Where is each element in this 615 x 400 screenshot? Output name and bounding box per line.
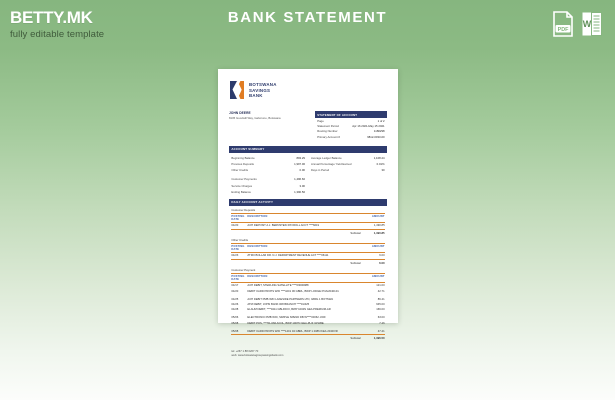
subtotal-row: Subtotal6.00 xyxy=(231,259,384,266)
column-header-date: POSTING DATE xyxy=(231,275,247,281)
footer-web: web: www.botswanagroupsavingsbank.com xyxy=(231,354,384,358)
transaction-date: 05/08 xyxy=(231,322,247,325)
transaction-description: ELAUM DEBIT, ****0411 GBLRICO, BWP 1002N… xyxy=(247,308,366,311)
summary-row-label: Service Charges xyxy=(231,184,252,188)
column-header-description: DESCRIPTION xyxy=(247,245,366,251)
statement-row-value: 9812-0033-00 xyxy=(367,135,384,139)
transaction-amount: 1,490.85 xyxy=(367,224,385,227)
subtotal-value: 6.00 xyxy=(367,261,385,265)
transaction-date: 05/06 xyxy=(231,316,247,319)
bank-name-line3: BANK xyxy=(249,93,277,99)
transaction-description: ACH DEBIT, STERLING SATELLITE ****030009… xyxy=(247,284,366,287)
summary-row-label: Ending Balance xyxy=(231,190,251,194)
column-header-date: POSTING DATE xyxy=(231,245,247,251)
transaction-description: DEBIT CARD PRCHS W/D ****1401 04 GBRL, B… xyxy=(247,330,366,333)
summary-row-value: 0.00 xyxy=(300,168,305,172)
summary-column-right: Average Ledger Balance1,108.24Annual Per… xyxy=(311,155,385,195)
activity-group-title: Other Credits xyxy=(231,236,384,243)
summary-column-left: Beginning Balance893.29Previous Deposits… xyxy=(231,155,305,195)
document-footer: tel: +267 1 88 0267 70 web: www.botswana… xyxy=(229,350,387,358)
summary-row-label: Annual Percentage Yield Earned xyxy=(311,162,351,166)
transaction-description: ACH DEPOSIT A.J. BERNSTEIN PAYROLL ACCT … xyxy=(247,224,366,227)
transaction-amount: 166.00 xyxy=(367,308,385,311)
statement-row-label: Statement Period xyxy=(317,124,339,128)
top-header-bar: BETTY.MK fully editable template BANK ST… xyxy=(0,0,615,50)
word-file-icon[interactable]: W xyxy=(581,11,603,37)
activity-column-header: POSTING DATEDESCRIPTIONAMOUNT xyxy=(231,273,384,283)
column-header-description: DESCRIPTION xyxy=(247,215,366,221)
statement-box-title: STATEMENT OF ACCOUNT xyxy=(315,111,387,118)
bank-header: BOTSWANA SAVINGS BANK xyxy=(229,80,387,102)
svg-text:PDF: PDF xyxy=(558,27,569,33)
transaction-description: ZTRO BOLLAR DR. N.J. DEPARTMENT REVENUE … xyxy=(247,254,366,257)
identity-row: JOHN DEERE 8105 Goodwill Way, Gaborone, … xyxy=(229,111,387,139)
activity-group-title: Customer Payment xyxy=(231,266,384,273)
document-preview[interactable]: BOTSWANA SAVINGS BANK JOHN DEERE 8105 Go… xyxy=(218,69,398,323)
summary-row-label: Beginning Balance xyxy=(231,156,254,160)
summary-row-value: 3.00 xyxy=(300,184,305,188)
bank-logo-icon xyxy=(229,80,245,100)
column-header-amount: AMOUNT xyxy=(367,245,385,251)
transaction-description: ELECTRONIC PMB W/D, SIMPLE SPEND DB W***… xyxy=(247,316,366,319)
transaction-amount: 86.41 xyxy=(367,298,385,301)
statement-row-value: 1180298 xyxy=(374,129,385,133)
summary-row: Days in Period30 xyxy=(311,167,385,173)
summary-row-value: 1,390.50 xyxy=(294,190,305,194)
customer-block: JOHN DEERE 8105 Goodwill Way, Gaborone, … xyxy=(229,111,315,139)
transaction-amount: 645.00 xyxy=(367,303,385,306)
statement-of-account-box: STATEMENT OF ACCOUNT Page1 of 2Statement… xyxy=(315,111,387,139)
customer-name: JOHN DEERE xyxy=(229,111,315,115)
summary-row-value: 1,108.24 xyxy=(374,156,385,160)
summary-row-label: Customer Payments xyxy=(231,177,256,181)
transaction-date: 04/20 xyxy=(231,290,247,293)
column-header-date: POSTING DATE xyxy=(231,215,247,221)
transaction-date: 05/08 xyxy=(231,330,247,333)
transaction-description: ATM DEBIT, JOHN BANK 008 BRANCH ****01/4… xyxy=(247,303,366,306)
transaction-amount: 6.00 xyxy=(367,254,385,257)
transaction-date: 04/26 xyxy=(231,303,247,306)
transaction-date: 04/28 xyxy=(231,308,247,311)
daily-activity-header: DAILY ACCOUNT ACTIVITY xyxy=(229,199,387,206)
statement-row-value: 1 of 2 xyxy=(378,119,385,123)
subtotal-row: Subtotal1,496.50 xyxy=(231,334,384,341)
statement-row-value: Apr 16 2021-May 15 2021 xyxy=(352,124,384,128)
summary-row-label: Average Ledger Balance xyxy=(311,156,342,160)
account-summary-body: Beginning Balance893.29Previous Deposits… xyxy=(229,153,387,195)
transaction-date: 04/23 xyxy=(231,254,247,257)
column-header-amount: AMOUNT xyxy=(367,215,385,221)
statement-row-label: Page xyxy=(317,119,324,123)
summary-row-value: 0.01% xyxy=(377,162,385,166)
transaction-amount: 63.00 xyxy=(367,316,385,319)
summary-row: Ending Balance1,390.50 xyxy=(231,189,305,195)
statement-row-label: Primary Account # xyxy=(317,135,340,139)
bank-name-line1: BOTSWANA xyxy=(249,82,277,88)
transaction-amount: 42.71 xyxy=(367,290,385,293)
summary-row-value: 30 xyxy=(381,168,384,172)
subtotal-label: Subtotal xyxy=(231,231,366,235)
summary-row-value: 1,997.00 xyxy=(294,162,305,166)
transaction-description: ACH DEBIT PMB W/D LAKESIDE PARTNERS LTD,… xyxy=(247,298,366,301)
summary-row-label: Other Credits xyxy=(231,168,248,172)
transaction-description: DEBIT CARD PRCHS W/D ****4201 06 GBRL, B… xyxy=(247,290,366,293)
statement-box-row: Primary Account #9812-0033-00 xyxy=(315,133,387,138)
summary-row-label: Previous Deposits xyxy=(231,162,254,166)
transaction-date: 04/20 xyxy=(231,224,247,227)
subtotal-value: 1,496.50 xyxy=(367,336,385,340)
transaction-date: 04/25 xyxy=(231,298,247,301)
subtotal-row: Subtotal1,490.85 xyxy=(231,229,384,236)
pdf-file-icon[interactable]: PDF xyxy=(552,11,574,37)
transaction-amount: 121.00 xyxy=(367,284,385,287)
activity-group-title: Customer Deposits xyxy=(231,206,384,213)
activity-column-header: POSTING DATEDESCRIPTIONAMOUNT xyxy=(231,213,384,223)
transaction-amount: 7.46 xyxy=(367,322,385,325)
summary-row-label: Days in Period xyxy=(311,168,329,172)
subtotal-value: 1,490.85 xyxy=(367,231,385,235)
svg-text:W: W xyxy=(583,19,592,29)
subtotal-label: Subtotal xyxy=(231,336,366,340)
transaction-date: 04/17 xyxy=(231,284,247,287)
customer-address: 8105 Goodwill Way, Gaborone, Botswana xyxy=(229,117,315,121)
account-summary-header: ACCOUNT SUMMARY xyxy=(229,146,387,153)
column-header-description: DESCRIPTION xyxy=(247,275,366,281)
summary-row-value: 1,496.60 xyxy=(294,177,305,181)
brand-tagline: fully editable template xyxy=(10,29,104,41)
statement-box-rows: Page1 of 2Statement PeriodApr 16 2021-Ma… xyxy=(315,118,387,138)
activity-column-header: POSTING DATEDESCRIPTIONAMOUNT xyxy=(231,243,384,253)
bank-name: BOTSWANA SAVINGS BANK xyxy=(249,80,277,99)
transaction-description: DEBIT POS, ****61-666 ACOL, BWP 1007N GE… xyxy=(247,322,366,325)
page-title: BANK STATEMENT xyxy=(0,9,615,26)
subtotal-label: Subtotal xyxy=(231,261,366,265)
column-header-amount: AMOUNT xyxy=(367,275,385,281)
transaction-amount: 47.41 xyxy=(367,330,385,333)
daily-activity-body: Customer DepositsPOSTING DATEDESCRIPTION… xyxy=(229,206,387,341)
summary-row-value: 893.29 xyxy=(296,156,305,160)
format-icons-group: PDF W xyxy=(552,11,603,37)
statement-row-label: Routing Number xyxy=(317,129,337,133)
